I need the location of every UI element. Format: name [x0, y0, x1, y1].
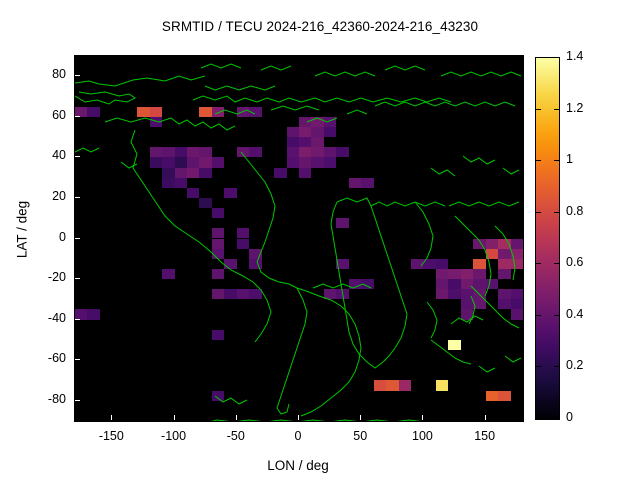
colorbar-tickmark [536, 212, 541, 213]
coastline-path [277, 288, 307, 414]
coastline-path [241, 152, 275, 262]
coastline-path [215, 396, 247, 404]
x-tickmark [236, 415, 237, 420]
x-tickmark [422, 415, 423, 420]
colorbar-tickmark [554, 212, 559, 213]
coastline-path [415, 202, 433, 266]
coastline-path [205, 86, 275, 90]
y-tick-label: 40 [16, 148, 66, 162]
coastline-path [431, 340, 471, 364]
x-tickmark [485, 415, 486, 420]
heatmap-plot-area [74, 55, 524, 422]
coastline-path [171, 118, 235, 130]
x-axis-label: LON / deg [74, 458, 522, 473]
x-tick-label: -150 [81, 429, 141, 443]
colorbar-tickmark [536, 418, 541, 419]
x-tickmark [174, 415, 175, 420]
x-tickmark [360, 415, 361, 420]
y-tickmark [75, 116, 80, 117]
y-tickmark [75, 400, 80, 401]
y-tick-label: -80 [16, 392, 66, 406]
coastline-path [75, 420, 521, 421]
colorbar-tickmark [536, 57, 541, 58]
coastline-path [297, 288, 361, 416]
y-tickmark [75, 278, 80, 279]
coastline-path [257, 262, 297, 288]
colorbar-tick-label: 0 [566, 410, 573, 424]
y-tick-label: 60 [16, 108, 66, 122]
y-axis-label: LAT / deg [15, 170, 30, 290]
coastline-path [75, 148, 99, 152]
coastline-path [479, 366, 495, 372]
coastline-path [215, 110, 255, 114]
page-title: SRMTID / TECU 2024-216_42360-2024-216_43… [0, 19, 640, 34]
y-tickmark [75, 156, 80, 157]
y-tick-label: -60 [16, 351, 66, 365]
y-tick-label: 80 [16, 67, 66, 81]
coastline-path [463, 156, 495, 164]
coastline-path [371, 202, 445, 206]
colorbar-tick-label: 0.2 [566, 358, 583, 372]
colorbar-tickmark [554, 160, 559, 161]
coastline-layer [75, 56, 523, 421]
colorbar-tick-label: 1.4 [566, 49, 583, 63]
coastline-path [105, 118, 171, 122]
coastline-path [271, 106, 319, 110]
y-tickmark [75, 319, 80, 320]
colorbar-tickmark [554, 263, 559, 264]
y-tickmark [75, 238, 80, 239]
x-tick-label: 0 [268, 429, 328, 443]
colorbar-tick-label: 0.8 [566, 204, 583, 218]
coastline-path [131, 130, 253, 282]
y-tickmark [75, 197, 80, 198]
colorbar-tickmark [536, 160, 541, 161]
colorbar-tickmark [554, 57, 559, 58]
coastline-path [427, 302, 437, 338]
coastline-path [193, 96, 451, 102]
coastline-path [385, 66, 425, 70]
coastline-path [253, 282, 271, 342]
colorbar-tickmark [536, 366, 541, 367]
colorbar-tickmark [536, 263, 541, 264]
x-tick-label: 100 [392, 429, 452, 443]
colorbar-tick-label: 0.6 [566, 255, 583, 269]
colorbar-tickmark [554, 109, 559, 110]
x-tickmark [111, 415, 112, 420]
coastline-path [471, 286, 519, 328]
coastline-path [441, 72, 521, 76]
coastline-path [331, 202, 383, 368]
colorbar-tick-label: 0.4 [566, 307, 583, 321]
coastline-path [75, 76, 205, 86]
x-tick-label: 150 [455, 429, 515, 443]
figure-canvas: SRMTID / TECU 2024-216_42360-2024-216_43… [0, 0, 640, 480]
colorbar-tick-label: 1 [566, 152, 573, 166]
coastline-path [505, 356, 521, 362]
coastline-path [495, 226, 515, 280]
colorbar-tick-label: 1.2 [566, 101, 583, 115]
colorbar-tickmark [554, 315, 559, 316]
x-tickmark [298, 415, 299, 420]
coastline-path [201, 64, 241, 68]
y-tick-label: -40 [16, 311, 66, 325]
y-tickmark [75, 359, 80, 360]
x-tick-label: -100 [144, 429, 204, 443]
coastline-path [337, 198, 371, 206]
coastline-path [431, 168, 455, 176]
coastline-path [347, 110, 367, 114]
coastline-path [315, 72, 375, 76]
x-tick-label: 50 [330, 429, 390, 443]
coastline-path [449, 202, 519, 206]
coastline-path [455, 216, 491, 296]
coastline-path [75, 92, 135, 104]
coastline-path [261, 66, 291, 70]
colorbar-tickmark [536, 109, 541, 110]
y-tickmark [75, 75, 80, 76]
colorbar-tickmark [554, 366, 559, 367]
x-tick-label: -50 [206, 429, 266, 443]
coastline-path [307, 118, 337, 122]
colorbar-tickmark [554, 418, 559, 419]
colorbar-tickmark [536, 315, 541, 316]
coastline-path [375, 102, 515, 106]
coastline-path [371, 206, 407, 362]
coastline-path [503, 168, 519, 174]
colorbar-gradient [536, 58, 559, 419]
coastline-path [451, 316, 483, 324]
